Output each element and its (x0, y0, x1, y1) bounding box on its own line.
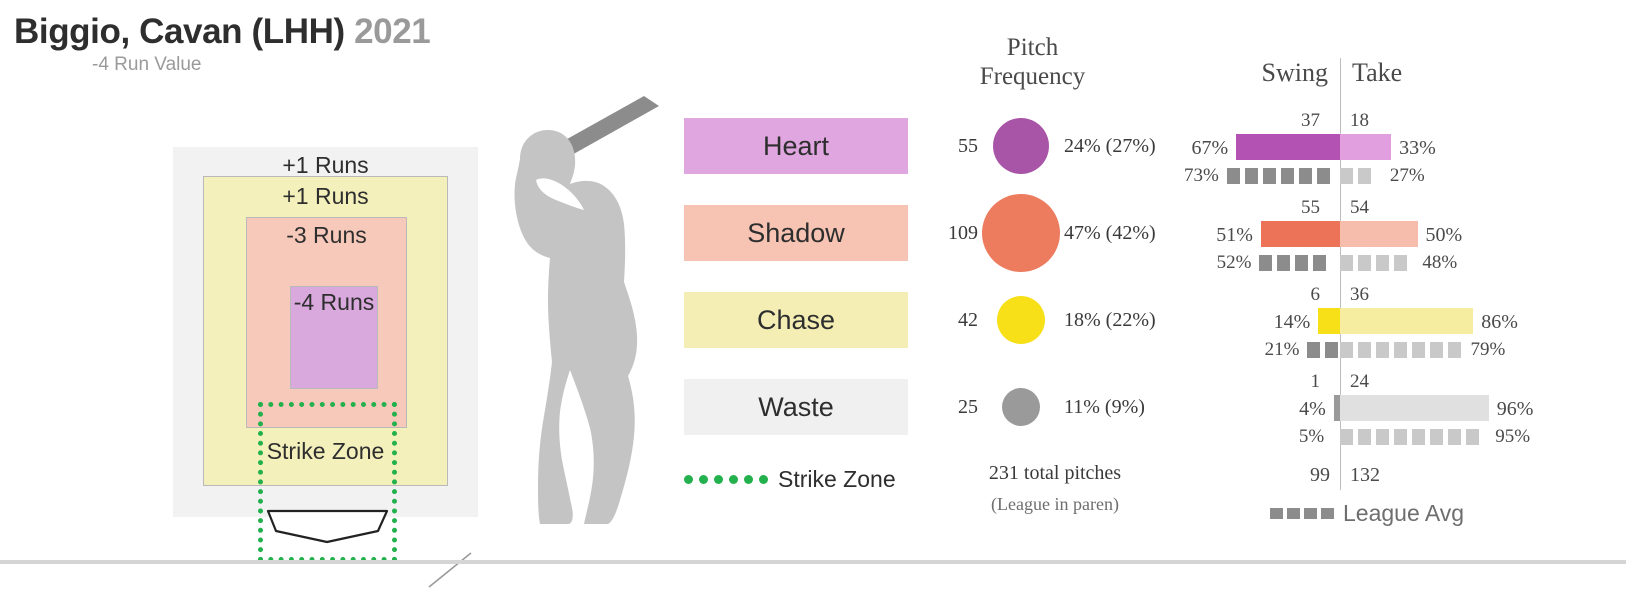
legend-label-waste: Waste (758, 392, 834, 423)
take-header-label: Take (1340, 58, 1490, 88)
frequency-row-heart: 55 24% (27%) (930, 118, 1180, 174)
frequency-bubble-cell-chase (978, 296, 1064, 344)
league-take-pct-shadow: 48% (1422, 252, 1457, 274)
legend-item-strike-zone: Strike Zone (684, 466, 908, 493)
heart-zone-region: -4 Runs (290, 286, 378, 389)
league-swing-pct-heart: 73% (1175, 165, 1219, 187)
frequency-bubble-cell-shadow (978, 194, 1064, 272)
league-avg-dash (1430, 342, 1443, 358)
frequency-bubble-shadow (982, 194, 1060, 272)
frequency-row-shadow: 109 47% (42%) (930, 205, 1180, 261)
league-avg-dash (1259, 255, 1272, 271)
season-text: 2021 (354, 12, 430, 51)
batter-silhouette (476, 84, 666, 524)
league-avg-bar-heart: 73%27% (1190, 168, 1626, 184)
frequency-count-heart: 55 (930, 135, 978, 158)
league-avg-dash (1277, 255, 1290, 271)
league-avg-dash (1376, 255, 1389, 271)
league-avg-dash (1340, 255, 1353, 271)
league-avg-dash (1295, 255, 1308, 271)
home-plate-icon (260, 505, 395, 545)
league-avg-dash (1394, 429, 1407, 445)
strike-zone-caption: Strike Zone (173, 438, 478, 465)
league-avg-dash (1376, 429, 1389, 445)
waste-run-value-label: +1 Runs (173, 152, 478, 179)
league-swing-pct-chase: 21% (1255, 339, 1299, 361)
swing-pct-chase: 14% (1274, 311, 1311, 334)
league-avg-dash (1307, 342, 1320, 358)
zone-legend: Heart Shadow Chase Waste (684, 118, 908, 466)
pitch-frequency-header: Pitch Frequency (940, 34, 1125, 92)
league-avg-dash (1376, 342, 1389, 358)
strike-zone-dots-icon (684, 475, 768, 484)
swing-bar-segment-chase (1318, 308, 1340, 334)
league-paren-note: (League in paren) (930, 494, 1180, 515)
title-block: Biggio, Cavan (LHH) 2021 -4 Run Value (14, 12, 534, 76)
league-take-pct-chase: 79% (1470, 339, 1505, 361)
shadow-zone-region: -3 Runs -4 Runs (246, 217, 407, 428)
pitch-frequency-column: 55 24% (27%) 109 47% (42%) 42 18% (22%) … (930, 118, 1180, 466)
player-name-text: Biggio, Cavan (LHH) (14, 12, 345, 51)
frequency-bubble-cell-waste (978, 388, 1064, 426)
frequency-bubble-chase (997, 296, 1045, 344)
league-avg-dash (1394, 255, 1407, 271)
swing-pct-heart: 67% (1191, 137, 1228, 160)
frequency-row-waste: 25 11% (9%) (930, 379, 1180, 435)
league-avg-bar-shadow: 52%48% (1190, 255, 1626, 271)
take-bar-segment-shadow (1340, 221, 1418, 247)
legend-item-chase[interactable]: Chase (684, 292, 908, 348)
league-avg-dash (1227, 168, 1240, 184)
total-pitches-label: 231 total pitches (930, 462, 1180, 485)
swing-take-row-heart: 371867%33%73%27% (1190, 110, 1626, 197)
legend-item-heart[interactable]: Heart (684, 118, 908, 174)
league-avg-dash (1325, 342, 1338, 358)
take-bar-segment-chase (1340, 308, 1473, 334)
swing-take-row-waste: 1244%96%5%95% (1190, 371, 1626, 458)
league-avg-dash (1340, 429, 1353, 445)
frequency-pct-chase: 18% (22%) (1064, 309, 1156, 332)
take-count-shadow: 54 (1350, 197, 1369, 219)
legend-item-waste[interactable]: Waste (684, 379, 908, 435)
take-pct-heart: 33% (1399, 137, 1436, 160)
total-swings: 99 (1310, 464, 1330, 487)
bottom-divider (0, 560, 1626, 564)
swing-take-bar-waste[interactable]: 4%96% (1190, 395, 1626, 421)
legend-label-heart: Heart (763, 131, 829, 162)
frequency-count-waste: 25 (930, 396, 978, 419)
frequency-bubble-cell-heart (978, 118, 1064, 174)
league-avg-dash (1448, 342, 1461, 358)
swing-count-waste: 1 (1311, 371, 1321, 393)
swing-header-label: Swing (1190, 58, 1340, 88)
take-pct-shadow: 50% (1426, 224, 1463, 247)
swing-bar-segment-heart (1236, 134, 1340, 160)
league-avg-dash (1358, 429, 1371, 445)
league-avg-dash (1313, 255, 1326, 271)
swing-take-bar-heart[interactable]: 67%33% (1190, 134, 1626, 160)
league-avg-dash-icon (1270, 508, 1334, 519)
league-avg-dash (1263, 168, 1276, 184)
league-avg-dash (1299, 168, 1312, 184)
take-pct-waste: 96% (1497, 398, 1534, 421)
take-bar-segment-waste (1340, 395, 1489, 421)
frequency-bubble-waste (1002, 388, 1040, 426)
shadow-run-value-label: -3 Runs (247, 222, 406, 249)
league-take-pct-heart: 27% (1390, 165, 1425, 187)
frequency-pct-waste: 11% (9%) (1064, 396, 1145, 419)
league-swing-pct-shadow: 52% (1207, 252, 1251, 274)
take-count-chase: 36 (1350, 284, 1369, 306)
swing-take-row-chase: 63614%86%21%79% (1190, 284, 1626, 371)
frequency-pct-shadow: 47% (42%) (1064, 222, 1156, 245)
league-avg-bar-chase: 21%79% (1190, 342, 1626, 358)
league-avg-dash (1317, 168, 1330, 184)
legend-item-shadow[interactable]: Shadow (684, 205, 908, 261)
swing-count-chase: 6 (1311, 284, 1321, 306)
league-avg-dash (1394, 342, 1407, 358)
frequency-count-shadow: 109 (930, 222, 978, 245)
page-title: Biggio, Cavan (LHH) 2021 (14, 12, 534, 52)
frequency-pct-heart: 24% (27%) (1064, 135, 1156, 158)
league-avg-dash (1245, 168, 1258, 184)
take-count-waste: 24 (1350, 371, 1369, 393)
take-count-heart: 18 (1350, 110, 1369, 132)
swing-count-heart: 37 (1301, 110, 1320, 132)
legend-label-strike-zone: Strike Zone (778, 466, 896, 493)
league-avg-dash (1358, 255, 1371, 271)
frequency-row-chase: 42 18% (22%) (930, 292, 1180, 348)
league-avg-dash (1358, 342, 1371, 358)
swing-take-bar-shadow[interactable]: 51%50% (1190, 221, 1626, 247)
swing-take-bar-chase[interactable]: 14%86% (1190, 308, 1626, 334)
league-swing-pct-waste: 5% (1280, 426, 1324, 448)
frequency-bubble-heart (993, 118, 1049, 174)
swing-take-row-shadow: 555451%50%52%48% (1190, 197, 1626, 284)
take-bar-segment-heart (1340, 134, 1391, 160)
league-avg-dash (1358, 168, 1371, 184)
league-avg-dash (1448, 429, 1461, 445)
chase-run-value-label: +1 Runs (204, 183, 447, 210)
league-avg-dash (1340, 168, 1353, 184)
pitch-frequency-header-line2: Frequency (940, 63, 1125, 92)
swing-pct-waste: 4% (1299, 398, 1326, 421)
league-avg-bar-waste: 5%95% (1190, 429, 1626, 445)
swing-take-rows: 371867%33%73%27%555451%50%52%48%63614%86… (1190, 110, 1626, 458)
frequency-count-chase: 42 (930, 309, 978, 332)
league-avg-dash (1281, 168, 1294, 184)
league-avg-dash (1430, 429, 1443, 445)
swing-count-shadow: 55 (1301, 197, 1320, 219)
strike-zone-leader-line (427, 553, 473, 589)
league-avg-label: League Avg (1343, 500, 1464, 527)
league-avg-legend: League Avg (1270, 500, 1550, 527)
league-take-pct-waste: 95% (1495, 426, 1530, 448)
legend-label-shadow: Shadow (747, 218, 845, 249)
league-avg-dash (1412, 429, 1425, 445)
league-avg-dash (1340, 342, 1353, 358)
total-takes: 132 (1350, 464, 1380, 487)
league-avg-dash (1466, 429, 1479, 445)
pitch-frequency-header-line1: Pitch (940, 34, 1125, 63)
take-pct-chase: 86% (1481, 311, 1518, 334)
legend-label-chase: Chase (757, 305, 835, 336)
swing-pct-shadow: 51% (1216, 224, 1253, 247)
run-value-subtitle: -4 Run Value (92, 54, 534, 76)
league-avg-dash (1412, 342, 1425, 358)
heart-run-value-label: -4 Runs (291, 289, 377, 316)
swing-bar-segment-shadow (1261, 221, 1340, 247)
